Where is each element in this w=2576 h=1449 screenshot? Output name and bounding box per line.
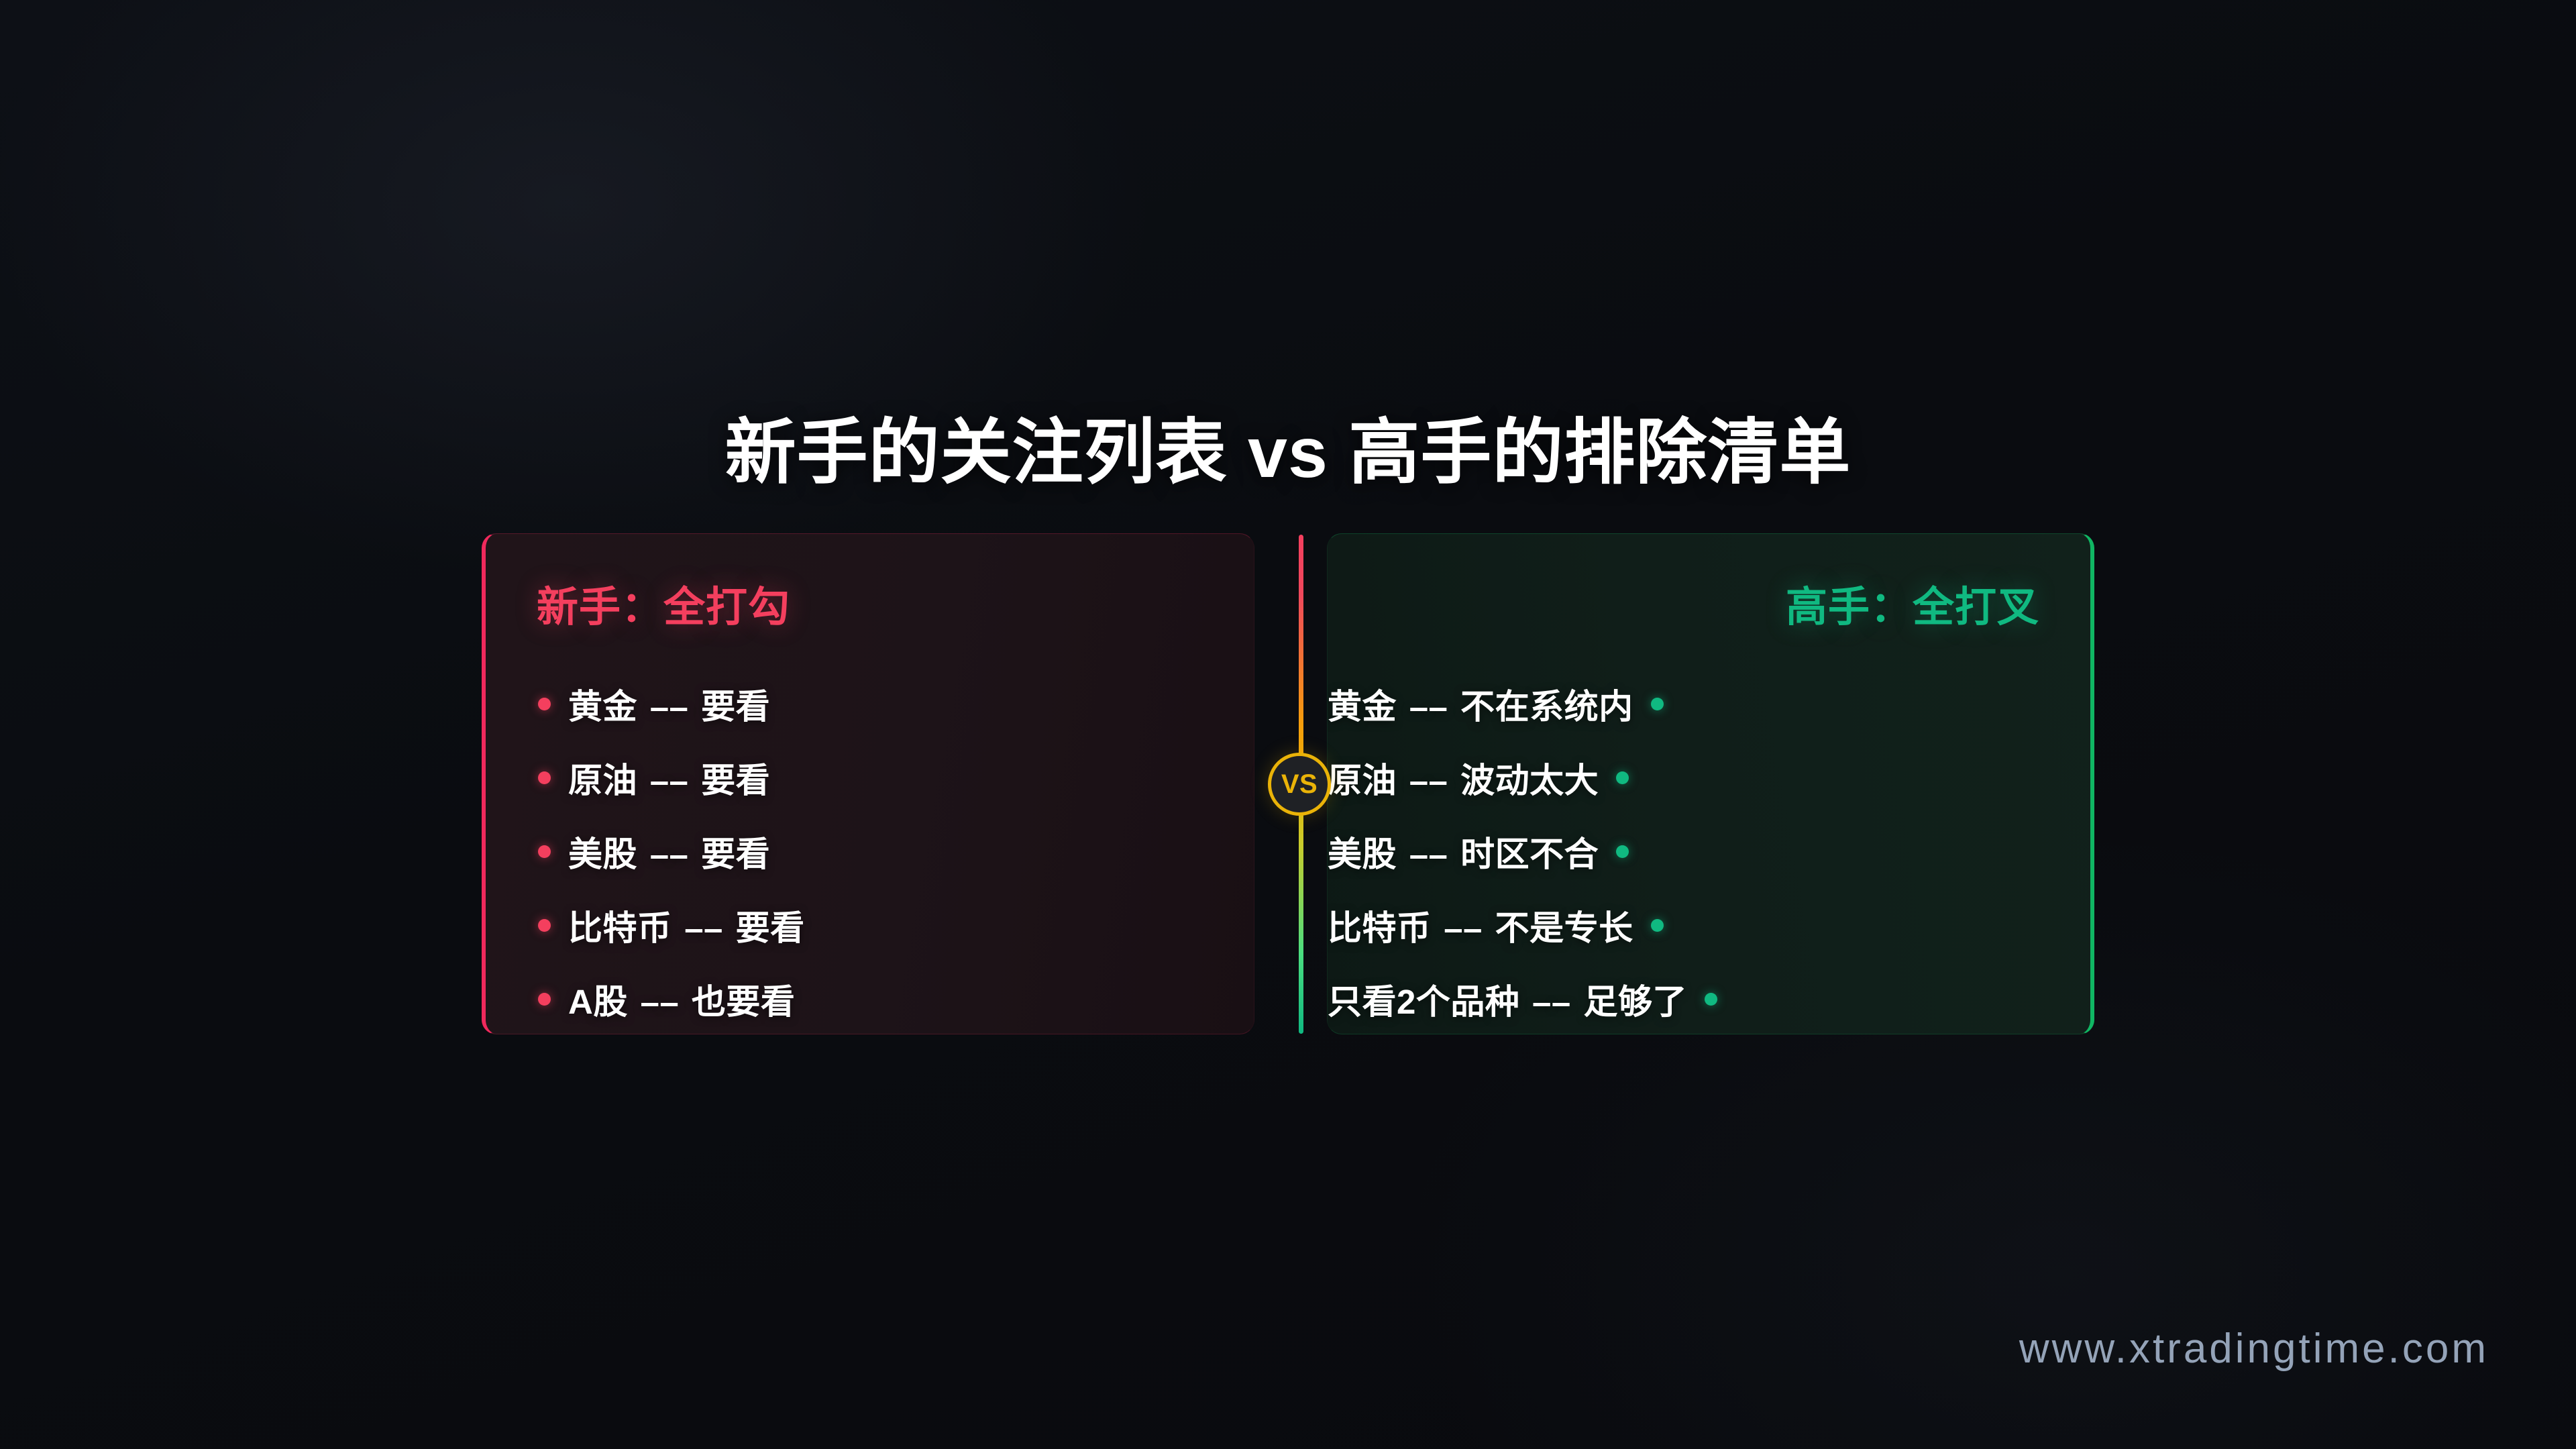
vs-badge: VS bbox=[1268, 753, 1331, 816]
novice-panel: 新手：全打勾 黄金 –– 要看 原油 –– 要看 美股 –– 要看 比特币 ––… bbox=[482, 533, 1254, 1034]
list-item-label: 美股 –– 要看 bbox=[568, 826, 770, 876]
list-item-label: 原油 –– 要看 bbox=[568, 753, 770, 802]
bullet-dot-icon bbox=[1651, 919, 1664, 932]
expert-panel: 高手：全打叉 黄金 –– 不在系统内 原油 –– 波动太大 美股 –– 时区不合… bbox=[1327, 533, 2094, 1034]
bullet-dot-icon bbox=[1616, 845, 1629, 858]
list-item: 美股 –– 要看 bbox=[486, 814, 1254, 888]
bullet-dot-icon bbox=[538, 698, 551, 710]
list-item-label: 黄金 –– 不在系统内 bbox=[1328, 679, 1633, 729]
list-item: 美股 –– 时区不合 bbox=[1328, 814, 2090, 888]
list-item: 黄金 –– 要看 bbox=[486, 667, 1254, 741]
expert-item-list: 黄金 –– 不在系统内 原油 –– 波动太大 美股 –– 时区不合 比特币 ––… bbox=[1328, 667, 2090, 1034]
expert-panel-heading: 高手：全打叉 bbox=[1786, 573, 2039, 633]
list-item-label: 比特币 –– 不是专长 bbox=[1328, 900, 1633, 950]
list-item-label: 黄金 –– 要看 bbox=[568, 679, 770, 729]
list-item-label: 原油 –– 波动太大 bbox=[1328, 753, 1599, 802]
novice-item-list: 黄金 –– 要看 原油 –– 要看 美股 –– 要看 比特币 –– 要看 A股 … bbox=[486, 667, 1254, 1034]
list-item-label: 比特币 –– 要看 bbox=[568, 900, 805, 950]
bullet-dot-icon bbox=[1651, 698, 1664, 710]
list-item-label: 只看2个品种 –– 足够了 bbox=[1328, 974, 1687, 1024]
novice-panel-heading: 新手：全打勾 bbox=[537, 573, 790, 633]
list-item: 原油 –– 要看 bbox=[486, 741, 1254, 814]
page-title: 新手的关注列表 vs 高手的排除清单 bbox=[0, 411, 2576, 496]
footer-website-url: www.xtradingtime.com bbox=[2019, 1325, 2489, 1373]
bullet-dot-icon bbox=[538, 845, 551, 858]
list-item: 黄金 –– 不在系统内 bbox=[1328, 667, 2090, 741]
list-item: 比特币 –– 要看 bbox=[486, 888, 1254, 962]
bullet-dot-icon bbox=[1616, 771, 1629, 784]
list-item: 原油 –– 波动太大 bbox=[1328, 741, 2090, 814]
slide-canvas: 新手的关注列表 vs 高手的排除清单 新手：全打勾 黄金 –– 要看 原油 ––… bbox=[0, 0, 2576, 1449]
list-item-label: 美股 –– 时区不合 bbox=[1328, 826, 1599, 876]
list-item: A股 –– 也要看 bbox=[486, 962, 1254, 1034]
list-item: 只看2个品种 –– 足够了 bbox=[1328, 962, 2090, 1034]
bullet-dot-icon bbox=[538, 993, 551, 1006]
list-item: 比特币 –– 不是专长 bbox=[1328, 888, 2090, 962]
bullet-dot-icon bbox=[1705, 993, 1717, 1006]
bullet-dot-icon bbox=[538, 771, 551, 784]
bullet-dot-icon bbox=[538, 919, 551, 932]
list-item-label: A股 –– 也要看 bbox=[568, 974, 795, 1024]
